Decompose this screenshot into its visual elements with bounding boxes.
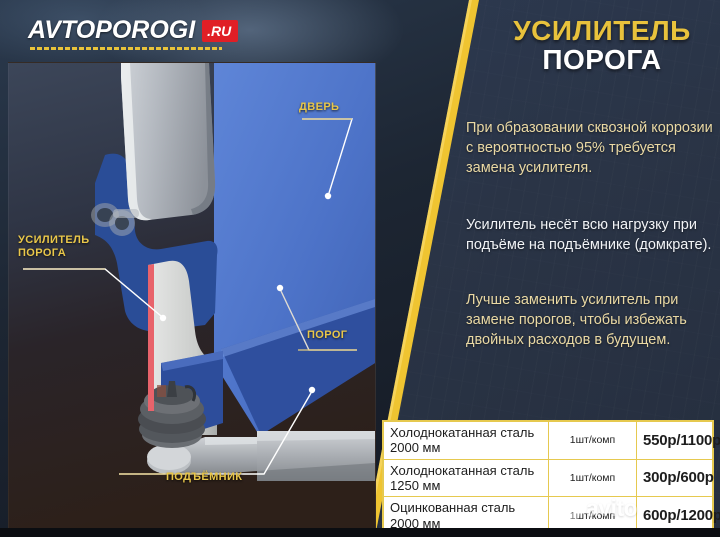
callout-label-reinforcer: УСИЛИТЕЛЬ ПОРОГА xyxy=(18,234,90,261)
table-row: Холоднокатанная сталь 1250 мм 1шт/комп 3… xyxy=(384,459,713,497)
callout-label-sill: ПОРОГ xyxy=(307,329,347,342)
row-unit: 1шт/комп xyxy=(549,459,637,497)
row-material-name: Холоднокатанная сталь 2000 мм xyxy=(384,422,549,460)
brand-logo[interactable]: AVTOPOROGI .RU xyxy=(28,18,238,43)
row-price: 300р/600р xyxy=(637,459,713,497)
logo-wordmark: AVTOPOROGI xyxy=(28,18,195,43)
row-unit: 1шт/комп xyxy=(549,422,637,460)
info-paragraph-load: Усилитель несёт всю нагрузку при подъёме… xyxy=(466,215,714,255)
page-title-line1: УСИЛИТЕЛЬ xyxy=(492,16,712,45)
price-table: Холоднокатанная сталь 2000 мм 1шт/комп 5… xyxy=(383,421,713,535)
row-price: 550р/1100р xyxy=(637,422,713,460)
page-title-line2: ПОРОГА xyxy=(492,45,712,76)
info-paragraph-corrosion: При образовании сквозной коррозии с веро… xyxy=(466,118,714,178)
diagram-svg xyxy=(9,63,375,529)
callout-label-door: ДВЕРЬ xyxy=(299,101,339,114)
logo-tld-badge: .RU xyxy=(202,20,238,42)
page-title: УСИЛИТЕЛЬ ПОРОГА xyxy=(492,16,712,76)
sill-cross-section-diagram xyxy=(8,62,376,530)
price-table-card: Холоднокатанная сталь 2000 мм 1шт/комп 5… xyxy=(382,420,714,536)
callout-label-lift: ПОДЪЁМНИК xyxy=(166,471,242,484)
poster-root: AVTOPOROGI .RU xyxy=(0,0,720,537)
bottom-strip xyxy=(0,528,720,537)
table-row: Холоднокатанная сталь 2000 мм 1шт/комп 5… xyxy=(384,422,713,460)
logo-underline-dashes xyxy=(30,47,222,50)
row-material-name: Холоднокатанная сталь 1250 мм xyxy=(384,459,549,497)
info-paragraph-replace: Лучше заменить усилитель при замене поро… xyxy=(466,290,714,350)
